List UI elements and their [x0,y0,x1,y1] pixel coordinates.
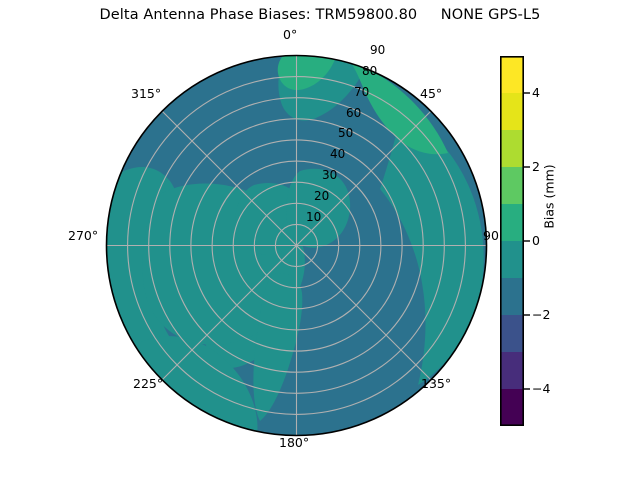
chart-title: Delta Antenna Phase Biases: TRM59800.80 … [0,7,640,23]
colorbar-band-5 [501,241,523,279]
colorbar-ticks [524,56,532,426]
colorbar-band-0 [501,56,523,94]
azimuth-tick-0: 0° [283,27,297,42]
colorbar-tick-neg-4: −4 [532,381,550,396]
radial-tick-90: 90 [370,43,385,57]
colorbar-band-3 [501,167,523,205]
colorbar-bands [501,56,523,426]
colorbar-tick-2: 2 [532,159,540,174]
colorbar-band-4 [501,204,523,242]
radial-tick-10: 10 [306,210,321,224]
azimuth-tick-225: 225° [133,376,163,391]
radial-tick-60: 60 [346,106,361,120]
radial-tick-70: 70 [354,85,369,99]
colorbar-tick-0: 0 [532,233,540,248]
colorbar-band-7 [501,315,523,353]
azimuth-tick-90: 90 [483,228,499,243]
colorbar-svg [500,56,524,426]
radial-tick-30: 30 [322,168,337,182]
colorbar-tick-4: 4 [532,85,540,100]
colorbar-band-2 [501,130,523,168]
colorbar-axis-label: Bias (mm) [542,164,557,228]
colorbar-tick-neg-2: −2 [532,307,550,322]
azimuth-tick-315: 315° [131,86,161,101]
azimuth-tick-135: 135° [421,376,451,391]
figure-canvas: Delta Antenna Phase Biases: TRM59800.80 … [0,0,640,480]
colorbar[interactable] [500,56,524,426]
colorbar-band-8 [501,352,523,390]
radial-tick-20: 20 [314,189,329,203]
azimuth-tick-270: 270° [68,228,98,243]
colorbar-band-9 [501,389,523,426]
colorbar-band-1 [501,93,523,131]
colorbar-band-6 [501,278,523,316]
azimuth-tick-45: 45° [420,86,442,101]
azimuth-tick-180: 180° [279,435,309,450]
radial-tick-80: 80 [362,64,377,78]
radial-tick-50: 50 [338,126,353,140]
radial-tick-40: 40 [330,147,345,161]
